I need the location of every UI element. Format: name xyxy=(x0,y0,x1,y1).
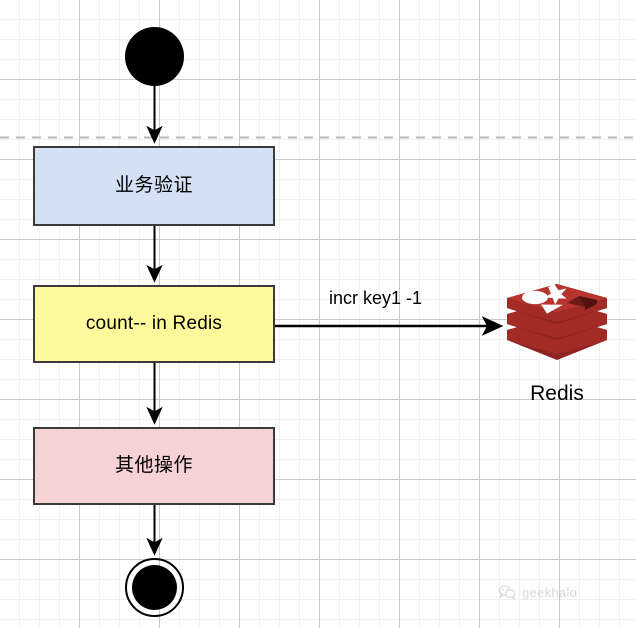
redis-stack-icon xyxy=(505,274,609,362)
activity-label-verify: 业务验证 xyxy=(115,175,193,198)
redis-node[interactable] xyxy=(505,274,609,362)
diagram-canvas: 业务验证 count-- in Redis 其他操作 incr key1 -1 xyxy=(0,0,636,628)
activity-label-other: 其他操作 xyxy=(115,455,193,478)
activity-label-count: count-- in Redis xyxy=(86,313,222,336)
start-node xyxy=(125,27,184,86)
wechat-icon xyxy=(498,584,516,600)
redis-caption: Redis xyxy=(505,382,609,406)
activity-node-verify[interactable]: 业务验证 xyxy=(33,146,275,226)
activity-node-other[interactable]: 其他操作 xyxy=(33,427,275,505)
watermark-text: geekhalo xyxy=(522,585,577,600)
watermark: geekhalo xyxy=(498,584,577,600)
edge-label-incr: incr key1 -1 xyxy=(329,288,422,309)
activity-node-count[interactable]: count-- in Redis xyxy=(33,285,275,363)
end-node xyxy=(125,558,184,617)
